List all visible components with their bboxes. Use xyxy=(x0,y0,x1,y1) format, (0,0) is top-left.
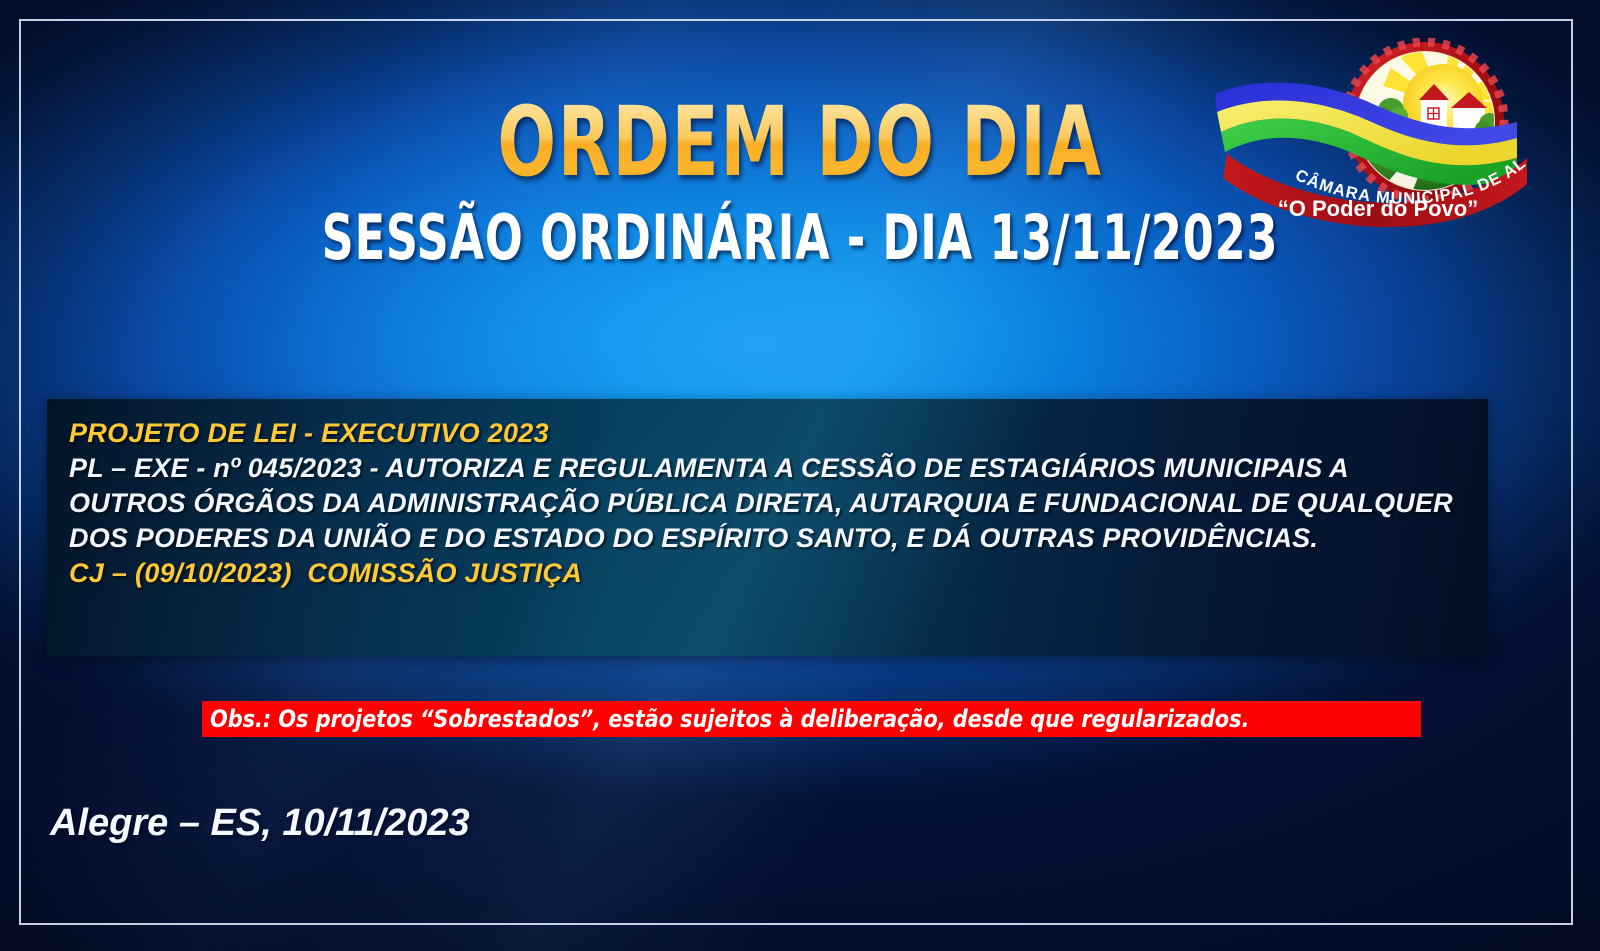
observation-banner: Obs.: Os projetos “Sobrestados”, estão s… xyxy=(202,701,1421,737)
panel-heading: PROJETO DE LEI - EXECUTIVO 2023 xyxy=(69,416,1488,451)
agenda-panel: PROJETO DE LEI - EXECUTIVO 2023 PL – EXE… xyxy=(47,399,1488,656)
observation-text: Obs.: Os projetos “Sobrestados”, estão s… xyxy=(210,705,1249,733)
panel-commission-line: CJ – (09/10/2023) COMISSÃO JUSTIÇA xyxy=(69,556,1488,591)
footer-place-date: Alegre – ES, 10/11/2023 xyxy=(50,802,470,845)
panel-body-text: PL – EXE - nº 045/2023 - AUTORIZA E REGU… xyxy=(69,451,1469,556)
slide-canvas: ORDEM DO DIA SESSÃO ORDINÁRIA - DIA 13/1… xyxy=(0,0,1600,951)
municipal-crest-icon: CÂMARA MUNICIPAL DE ALEGRE - ES “O Poder… xyxy=(1205,38,1535,238)
municipal-logo: CÂMARA MUNICIPAL DE ALEGRE - ES “O Poder… xyxy=(1205,38,1535,238)
logo-motto: “O Poder do Povo” xyxy=(1278,196,1478,221)
